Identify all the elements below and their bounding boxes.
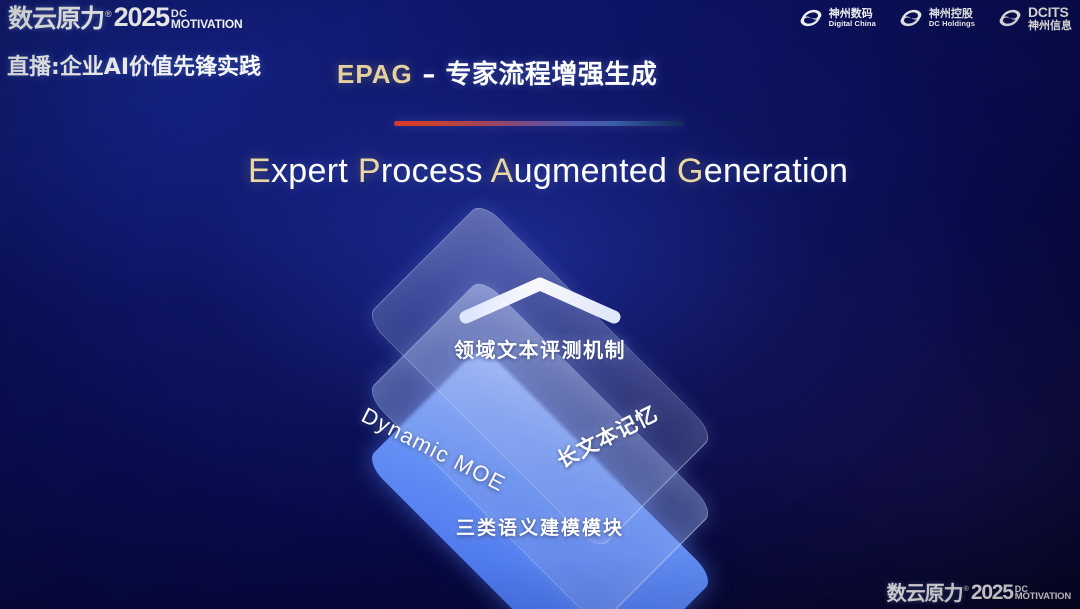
subtitle-cap-g: G — [677, 152, 704, 190]
layered-stack-diagram: 领域文本评测机制 Dynamic MOE 长文本记忆 三类语义建模模块 — [285, 225, 795, 555]
logo-digital-china: 神州数码 Digital China — [798, 7, 876, 29]
stack-layer-bottom-label: 三类语义建模模块 — [285, 513, 795, 540]
subtitle-cap-e: E — [248, 152, 271, 190]
logo-digital-china-en: Digital China — [829, 20, 876, 28]
watermark-brand: 数云原力 ® 2025 DC MOTIVATION — [887, 582, 1071, 603]
stack-layer-top-label: 领域文本评测机制 — [285, 334, 795, 363]
logo-dcits: DCITS 神州信息 — [997, 5, 1072, 31]
subtitle-rest-augmented: ugmented — [514, 152, 668, 190]
page-title: EPAG – 专家流程增强生成 — [337, 54, 657, 91]
logo-dc-holdings-en: DC Holdings — [929, 20, 975, 28]
brand-year: 2025 — [114, 4, 169, 31]
spiral-logo-icon — [898, 7, 924, 29]
brand-motivation-label: MOTIVATION — [171, 19, 243, 30]
subtitle-rest-process: rocess — [381, 152, 483, 190]
watermark-year: 2025 — [971, 582, 1013, 603]
watermark-dc-motivation: DC MOTIVATION — [1015, 585, 1071, 602]
logo-dcits-text: DCITS 神州信息 — [1028, 5, 1072, 31]
watermark-registered-icon: ® — [964, 586, 969, 593]
subtitle-word-generation: Generation — [677, 152, 848, 190]
subtitle-rest-generation: eneration — [704, 152, 848, 190]
subtitle-rest-expert: xpert — [271, 152, 348, 190]
subtitle-word-expert: Expert — [248, 152, 348, 190]
logo-dcits-cn: 神州信息 — [1028, 20, 1072, 32]
subtitle-word-process: Process — [358, 152, 483, 190]
page-title-acronym: EPAG — [337, 59, 413, 89]
subtitle-expert-process-augmented-generation: Expert Process Augmented Generation — [248, 152, 848, 191]
partner-logos: 神州数码 Digital China 神州控股 DC Holdings — [798, 5, 1072, 31]
brand-dc-motivation: DC MOTIVATION — [171, 9, 243, 30]
subtitle-cap-p: P — [358, 152, 381, 190]
live-stream-title: 直播:企业AI价值先锋实践 — [7, 49, 261, 81]
gradient-divider — [394, 121, 684, 126]
spiral-logo-icon — [997, 7, 1023, 29]
watermark-motivation-label: MOTIVATION — [1015, 593, 1071, 602]
logo-digital-china-text: 神州数码 Digital China — [829, 8, 876, 27]
subtitle-cap-a: A — [491, 152, 514, 190]
spiral-logo-icon — [798, 7, 824, 29]
watermark-name-cn: 数云原力 — [887, 583, 963, 603]
logo-dc-holdings: 神州控股 DC Holdings — [898, 7, 975, 29]
slide-canvas: 数云原力 ® 2025 DC MOTIVATION 直播:企业AI价值先锋实践 … — [0, 0, 1080, 609]
logo-dcits-en: DCITS — [1028, 5, 1072, 20]
brand-name-cn: 数云原力 — [8, 6, 104, 31]
chevron-up-icon — [454, 273, 626, 327]
page-title-chinese: – 专家流程增强生成 — [413, 60, 658, 90]
subtitle-word-augmented: Augmented — [491, 152, 668, 190]
brand-logo: 数云原力 ® 2025 DC MOTIVATION — [8, 4, 242, 31]
logo-dc-holdings-text: 神州控股 DC Holdings — [929, 8, 975, 27]
registered-mark-icon: ® — [105, 10, 112, 19]
